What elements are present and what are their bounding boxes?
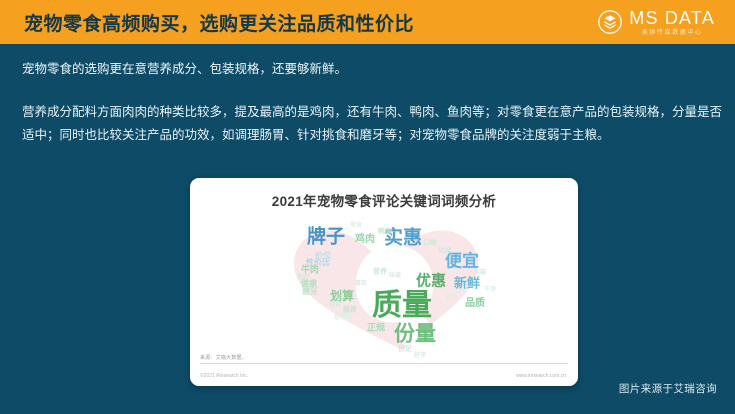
wordcloud-word: 鱼肉 (297, 275, 309, 281)
wordcloud-word: 鸭肉 (378, 229, 392, 236)
wordcloud-word: 好评 (414, 353, 426, 359)
stacked-diamond-logo-icon (598, 10, 622, 34)
brand-logo: MS DATA 美狮传媒数据中心 (598, 9, 721, 36)
card-url: www.iresearch.com.cn (516, 373, 566, 379)
page-title: 宠物零食高频购买，选购更关注品质和性价比 (24, 9, 598, 36)
wordcloud-word: 性价比 (306, 259, 330, 267)
wordcloud-word: 营养 (373, 269, 387, 276)
logo-text-block: MS DATA 美狮传媒数据中心 (629, 9, 715, 36)
wordcloud-word: 肠胃 (343, 307, 357, 314)
card-copyright: ©2021 iResearch Inc. (200, 373, 248, 379)
wordcloud-word: 份量 (394, 324, 436, 345)
wordcloud-canvas: 质量份量实惠牌子便宜优惠新鲜划算品质鸡肉牛肉正规健康价位性价比磨牙肠胃鸭肉价格口… (190, 210, 578, 355)
wordcloud-word: 挑食 (329, 302, 341, 308)
wordcloud-word: 实在 (446, 295, 458, 301)
wordcloud-word: 品质 (465, 299, 485, 309)
wordcloud-word: 包装 (474, 270, 486, 276)
wordcloud-word: 干净 (484, 287, 496, 293)
wordcloud-word: 喜欢 (355, 281, 367, 287)
wordcloud-word: 牌子 (307, 228, 345, 247)
card-footer-divider (200, 363, 568, 364)
image-attribution: 图片来源于艾瑞咨询 (619, 381, 717, 396)
wordcloud-title: 2021年宠物零食评论关键词词频分析 (190, 190, 578, 210)
wordcloud-word: 便宜 (445, 253, 479, 270)
logo-sub-text: 美狮传媒数据中心 (629, 30, 715, 36)
wordcloud-word: 划算 (330, 290, 354, 302)
wordcloud-word: 味道 (389, 273, 401, 279)
wordcloud-word: 质量 (372, 291, 432, 321)
wordcloud-word: 正规 (367, 324, 385, 333)
wordcloud-word: 划得来 (334, 315, 352, 321)
wordcloud-word: 鸡肉 (355, 235, 375, 245)
wordcloud-card: 2021年宠物零食评论关键词词频分析 质量份量实惠牌子便宜优惠新鲜划算品质鸡肉牛… (190, 178, 578, 386)
wordcloud-word: 磨牙 (302, 288, 318, 296)
wordcloud-word: 价格 (438, 248, 452, 255)
card-source-note: 来源：艾瑞大数据。 (200, 354, 247, 361)
body-paragraph: 营养成分配料方面肉肉的种类比较多，提及最高的是鸡肉，还有牛肉、鸭肉、鱼肉等；对零… (22, 101, 722, 147)
wordcloud-word: 零食 (350, 223, 362, 229)
logo-main-text: MS DATA (629, 9, 715, 27)
wordcloud-word: 口味 (423, 240, 437, 247)
wordcloud-word: 新鲜 (454, 277, 480, 290)
lead-sentence: 宠物零食的选购更在意营养成分、包装规格，还要够新鲜。 (22, 60, 722, 79)
wordcloud-word: 优惠 (416, 274, 446, 289)
header-bar: 宠物零食高频购买，选购更关注品质和性价比 MS DATA 美狮传媒数据中心 (0, 0, 735, 44)
wordcloud-word: 份足 (398, 346, 412, 353)
body-copy: 宠物零食的选购更在意营养成分、包装规格，还要够新鲜。 营养成分配料方面肉肉的种类… (22, 60, 722, 147)
